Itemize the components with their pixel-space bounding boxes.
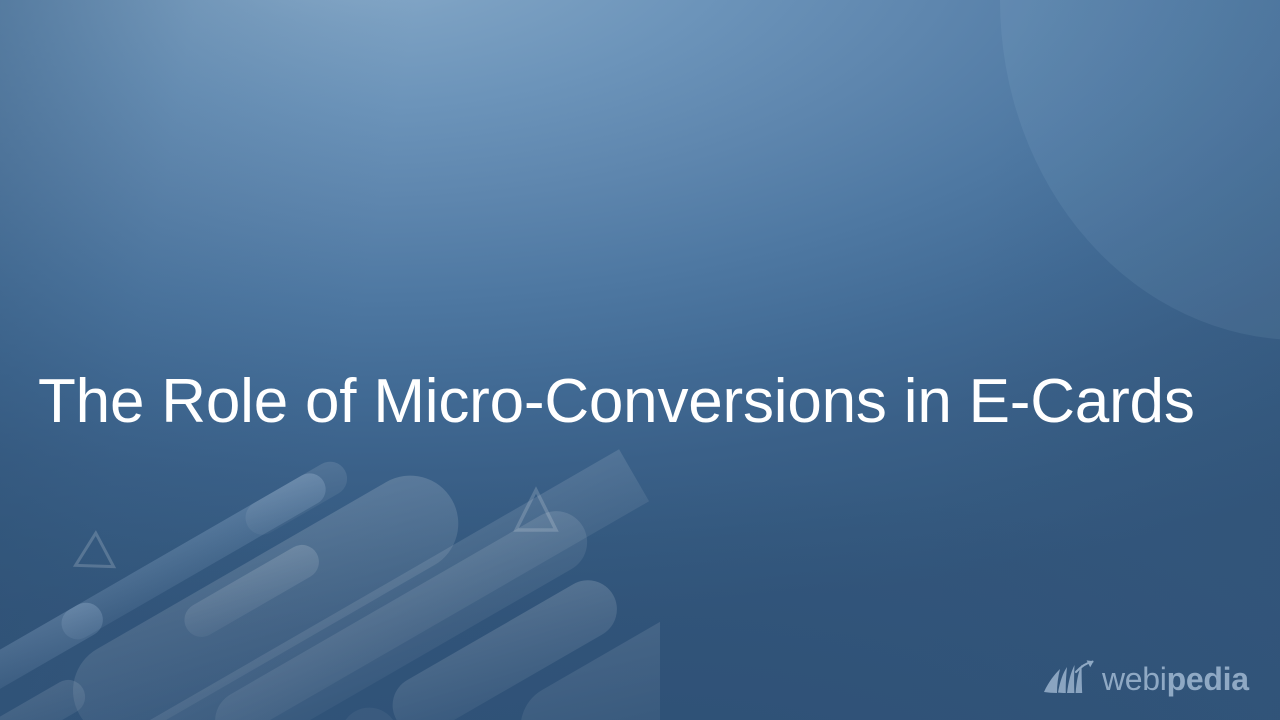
presentation-slide: The Role of Micro-Conversions in E-Cards…	[0, 0, 1280, 720]
decorative-shape-cluster	[0, 430, 660, 720]
slide-title: The Role of Micro-Conversions in E-Cards	[38, 364, 1258, 440]
wordmark-bold-part: pedia	[1167, 661, 1249, 697]
webipedia-w-arrow-icon	[1043, 659, 1097, 699]
wordmark-light-part: webi	[1102, 661, 1167, 697]
webipedia-logo[interactable]: webipedia	[1043, 654, 1243, 704]
diagonal-bar-group	[0, 430, 660, 720]
webipedia-wordmark: webipedia	[1102, 662, 1249, 696]
triangle-outline-rotated	[67, 533, 114, 582]
